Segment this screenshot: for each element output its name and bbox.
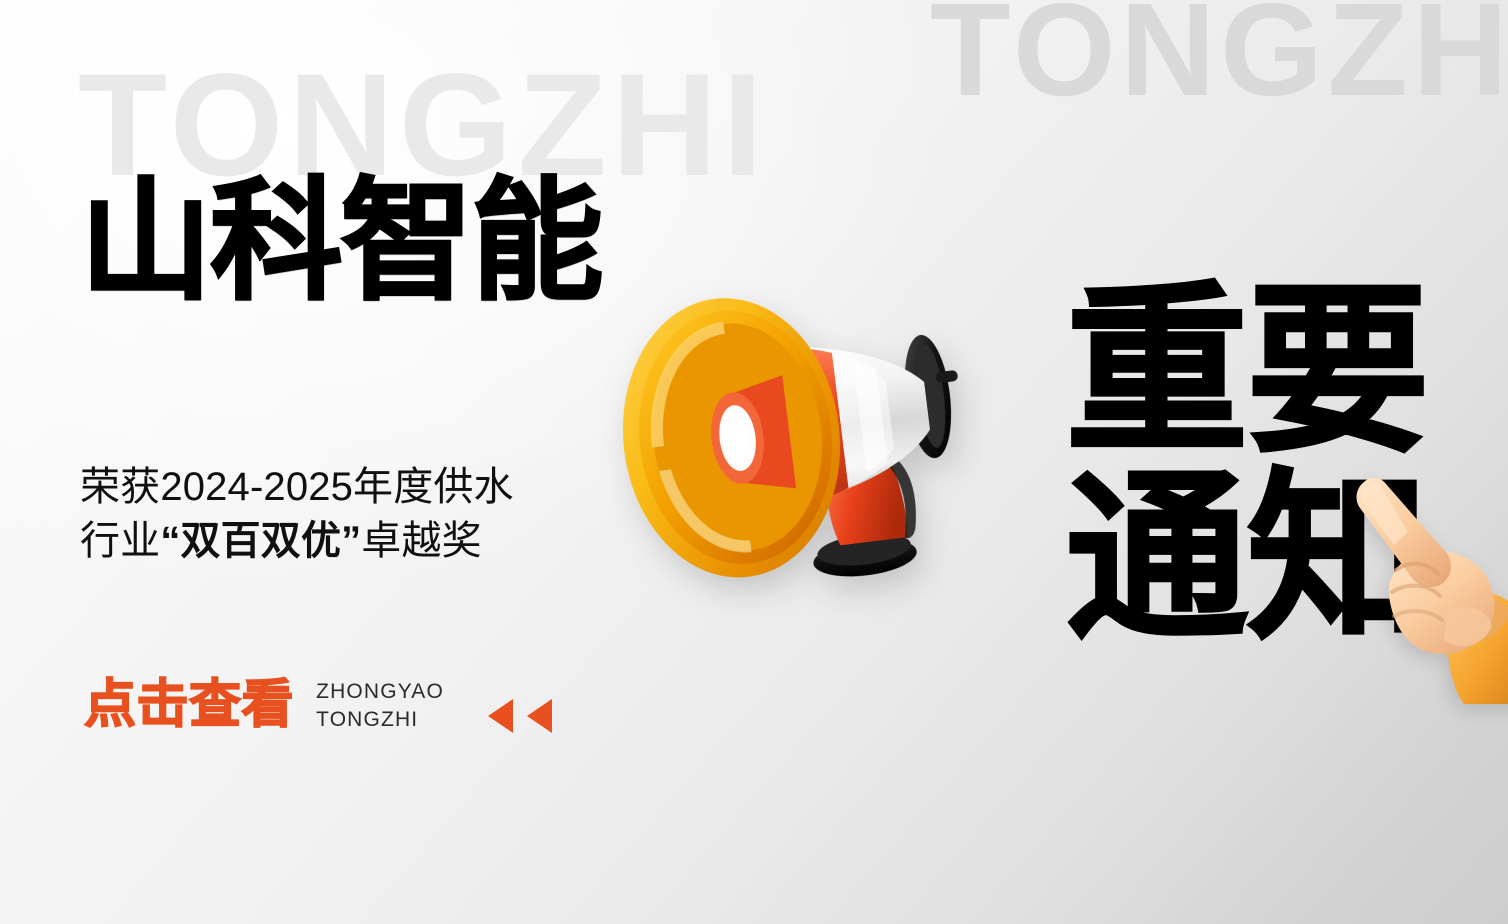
award-subtitle-highlight: “双百双优” — [160, 519, 361, 563]
triangle-left-icon — [488, 699, 513, 733]
cta-pinyin: ZHONGYAO TONGZHI — [316, 676, 444, 734]
cta-arrow-group — [488, 677, 552, 733]
watermark-text-secondary: TONGZHI — [930, 0, 1508, 116]
award-subtitle-line1: 荣获2024-2025年度供水 — [80, 460, 640, 514]
left-content-column: 山科智能 — [80, 176, 720, 308]
cta-group[interactable]: 点击查看 ZHONGYAO TONGZHI — [84, 676, 552, 734]
promo-banner: TONGZHI TONGZHI 山科智能 荣获2024-2025年度供水 行业“… — [0, 0, 1508, 924]
cta-pinyin-line2: TONGZHI — [316, 706, 444, 734]
award-subtitle-suffix: 卓越奖 — [361, 519, 481, 563]
award-subtitle-line2: 行业“双百双优”卓越奖 — [80, 514, 640, 568]
cta-label[interactable]: 点击查看 — [84, 679, 294, 731]
triangle-left-icon — [527, 699, 552, 733]
pointing-hand-3d-icon — [1334, 474, 1508, 704]
brand-title: 山科智能 — [80, 176, 720, 308]
award-subtitle: 荣获2024-2025年度供水 行业“双百双优”卓越奖 — [80, 460, 640, 568]
cta-pinyin-line1: ZHONGYAO — [316, 678, 444, 706]
award-subtitle-prefix: 行业 — [80, 519, 160, 563]
megaphone-3d-icon — [594, 253, 1030, 621]
headline-line-1: 重要 — [1066, 286, 1428, 457]
